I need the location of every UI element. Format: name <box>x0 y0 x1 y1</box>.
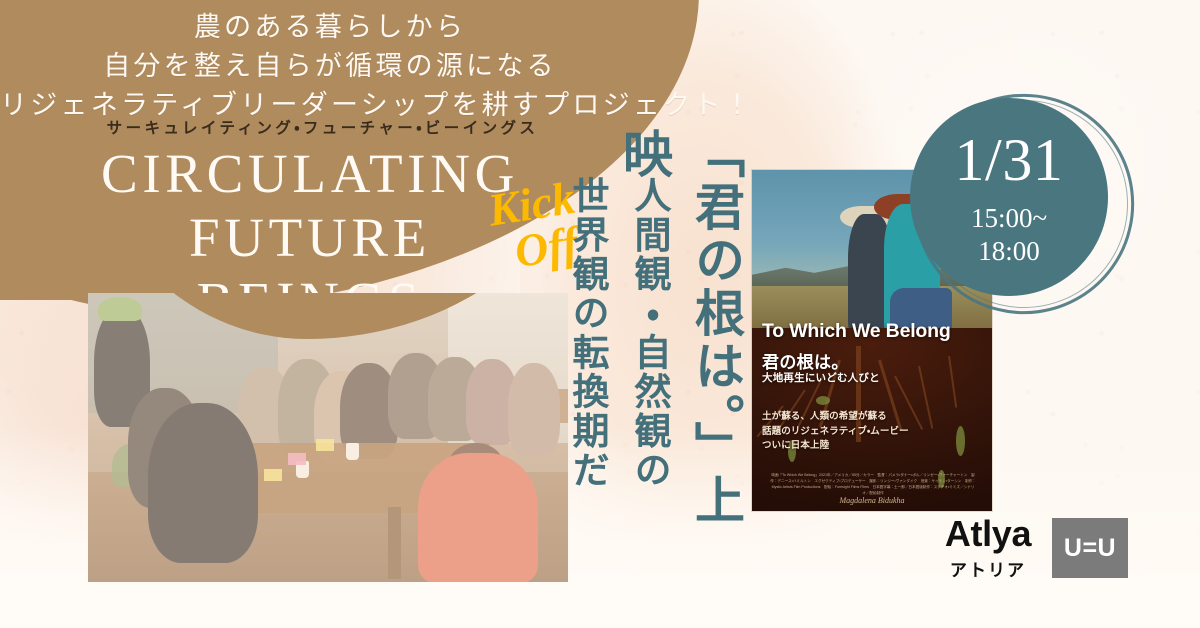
atlya-kana: アトリア <box>928 556 1048 581</box>
ueu-wordmark: U=U <box>1064 534 1116 563</box>
atlya-wordmark: Atlya <box>928 516 1048 552</box>
vertical-text-column-3: 世界観の転換期だ <box>560 176 614 556</box>
event-time-end: 18:00 <box>910 235 1108 268</box>
headline-line-1: 農のある暮らしから <box>0 8 660 47</box>
event-date: 1/31 <box>910 130 1108 190</box>
date-badge: 1/31 15:00~ 18:00 <box>916 96 1132 312</box>
film-signature: Magdalena Bidukha <box>752 496 992 505</box>
headline-block: 農のある暮らしから 自分を整え自らが循環の源になる リジェネラティブリーダーシッ… <box>0 8 660 125</box>
film-tagline: 大地再生にいどむ人びと <box>762 370 880 385</box>
film-seed <box>816 396 830 405</box>
headline-line-2: 自分を整え自らが循環の源になる <box>0 47 660 86</box>
subtitle-kana: サーキュレイティング・フューチャー・ビーイングス <box>0 116 645 138</box>
workshop-photo <box>88 293 568 582</box>
atlya-logo: Atlya アトリア <box>928 516 1048 581</box>
event-time-start: 15:00~ <box>910 202 1108 235</box>
film-copy-line-1: 土が蘇る、人類の希望が蘇る <box>762 410 962 425</box>
film-credits: 映画「To Which We Belong」2021年／アメリカ／85分／カラー… <box>770 472 976 496</box>
vertical-text-column-2: 人間観・自然観の <box>622 176 676 556</box>
event-poster: 農のある暮らしから 自分を整え自らが循環の源になる リジェネラティブリーダーシッ… <box>0 0 1200 628</box>
film-copy-line-2: 話題のリジェネラティブ・ムービー <box>762 425 962 440</box>
film-title-english: To Which We Belong <box>762 322 982 342</box>
event-time: 15:00~ 18:00 <box>910 202 1108 268</box>
ueu-logo: U=U <box>1052 518 1128 578</box>
film-copy-line-3: ついに日本上陸 <box>762 439 962 454</box>
film-copy-block: 土が蘇る、人類の希望が蘇る 話題のリジェネラティブ・ムービー ついに日本上陸 <box>762 410 962 454</box>
